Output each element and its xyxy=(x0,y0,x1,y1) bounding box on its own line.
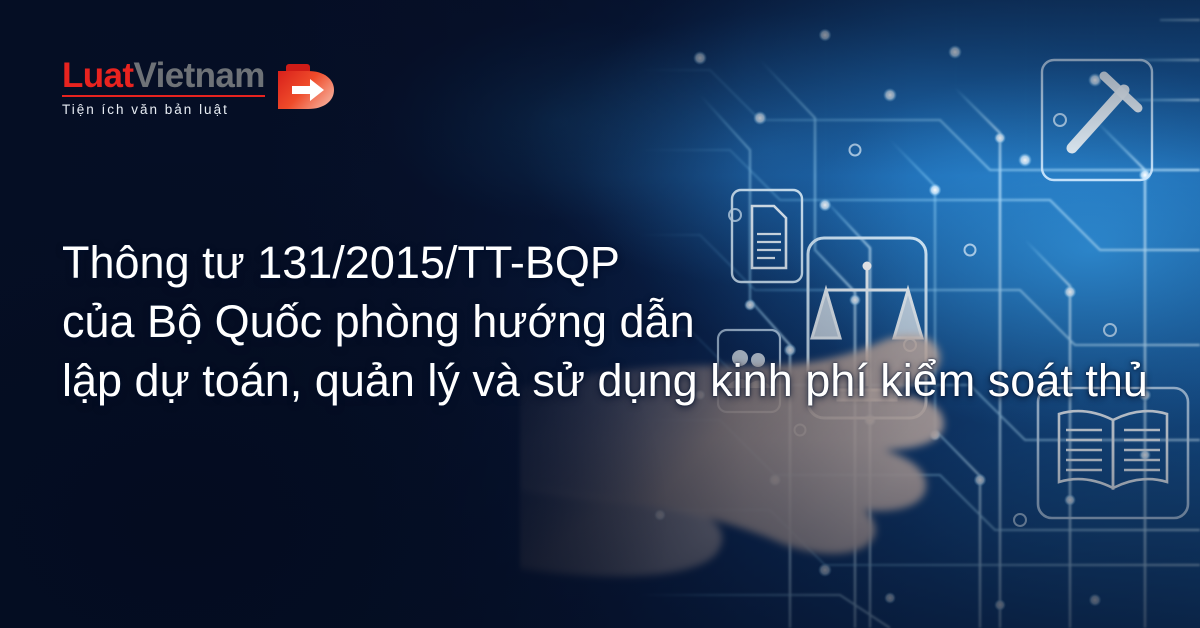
logo-word-vietnam: Vietnam xyxy=(133,56,264,95)
luatvietnam-logo[interactable]: LuatVietnam Tiện ích văn bản luật xyxy=(62,58,337,120)
logo-wordmark: LuatVietnam xyxy=(62,58,265,97)
headline-line-1: Thông tư 131/2015/TT-BQP xyxy=(62,233,1200,292)
headline-line-2: của Bộ Quốc phòng hướng dẫn xyxy=(62,292,1200,351)
logo-tagline: Tiện ích văn bản luật xyxy=(62,102,265,117)
banner: LuatVietnam Tiện ích văn bản luật Thôn xyxy=(0,0,1200,628)
headline: Thông tư 131/2015/TT-BQP của Bộ Quốc phò… xyxy=(62,233,1200,410)
headline-line-3: lập dự toán, quản lý và sử dụng kinh phí… xyxy=(62,351,1200,410)
logo-text-block: LuatVietnam Tiện ích văn bản luật xyxy=(62,58,265,117)
folder-arrow-right-icon xyxy=(275,60,337,120)
logo-word-luat: Luat xyxy=(62,56,133,95)
